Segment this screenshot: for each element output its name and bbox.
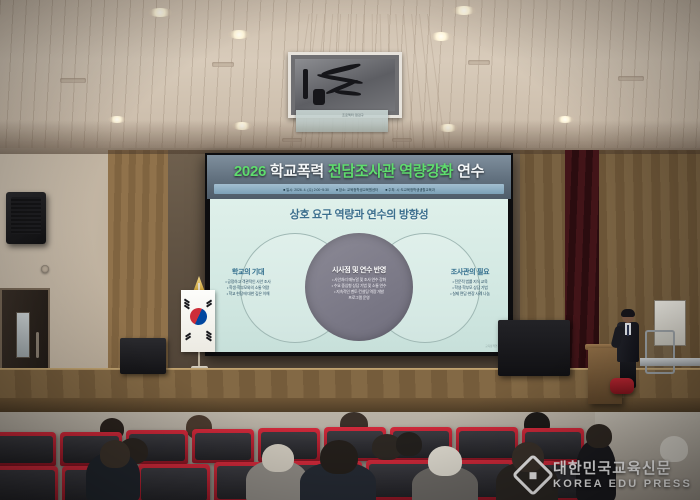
press-logo-icon [512, 454, 554, 496]
banner-subtitle-host: ■ 주최: 시·도교육청학생생활교육과 [385, 187, 435, 192]
watermark-korean: 대한민국교육신문 [553, 461, 692, 476]
audience-head [100, 440, 130, 468]
cable-connector [313, 89, 325, 105]
audience-head [660, 436, 688, 462]
ceiling-wall-shadow [0, 120, 700, 154]
door-handle[interactable] [36, 332, 39, 358]
wall-speaker [6, 192, 46, 244]
wall-fixture-icon [41, 265, 49, 273]
slide-title: 상호 요구 역량과 연수의 방향성 [210, 206, 508, 222]
taeguk-circle [187, 305, 211, 329]
ceiling-downlight [228, 30, 250, 39]
banner-title: 2026 학교폭력 전담조사관 역량강화 연수 [234, 160, 484, 181]
hatch-label-text: 프로젝터 점검구 [320, 113, 386, 117]
auditorium-seat[interactable] [0, 432, 56, 466]
ceiling-access-hatch [288, 52, 402, 118]
presenter-tie [627, 325, 629, 336]
ceiling-vent [60, 78, 86, 83]
ceiling-vent [468, 60, 490, 65]
equipment-rack [498, 320, 570, 376]
watermark: 대한민국교육신문 KOREA EDU PRESS [518, 460, 692, 490]
audience-head [396, 432, 422, 456]
red-bag [610, 378, 634, 394]
side-chair [645, 330, 675, 374]
banner-title-part-2: 전담조사관 [328, 163, 396, 180]
banner-title-part-1: 학교폭력 [270, 163, 324, 180]
watermark-text: 대한민국교육신문 KOREA EDU PRESS [553, 461, 692, 490]
presenter [617, 310, 639, 388]
list-item: • 실제 면담·현장 사례 나눔 [390, 291, 508, 297]
ceiling-vent [212, 62, 234, 67]
cable-bundle [303, 69, 308, 99]
slide-content: 상호 요구 역량과 연수의 방향성 학교의 기대 • 공정하고 객관적인 사안 … [210, 199, 508, 352]
ceiling-downlight [148, 8, 172, 17]
audience-head [586, 424, 612, 448]
watermark-english: KOREA EDU PRESS [553, 479, 692, 490]
stage-amplifier [120, 338, 166, 374]
banner-title-part-3: 역량강화 [399, 163, 453, 180]
door-window [16, 312, 30, 358]
venn-right-heading: 조사관의 필요 [390, 267, 508, 277]
auditorium-seat[interactable] [192, 429, 254, 463]
auditorium-seat[interactable] [456, 427, 518, 461]
banner-subtitle-place: ■ 장소: 교육청학생교육원센터 [336, 187, 378, 192]
audience-head [262, 444, 294, 472]
banner-subtitle-date: ■ 일시: 2026. 4. (수) 2:00~5:30 [283, 187, 329, 192]
auditorium-seat[interactable] [0, 466, 58, 500]
ceiling-downlight [430, 32, 452, 41]
event-banner: 2026 학교폭력 전담조사관 역량강화 연수 ■ 일시: 2026. 4. (… [207, 155, 511, 199]
photo-canvas: 프로젝터 점검구 2026 학교폭력 전담조사관 역량강화 연수 ■ 일시: 2… [0, 0, 700, 500]
ceiling-downlight [452, 6, 476, 15]
side-table [640, 358, 700, 366]
auditorium-seat[interactable] [138, 464, 210, 500]
banner-title-part-4: 연수 [457, 163, 484, 180]
audience-head [320, 440, 358, 474]
korean-flag [181, 290, 215, 352]
banner-subtitle: ■ 일시: 2026. 4. (수) 2:00~5:30 ■ 장소: 교육청학생… [214, 184, 504, 194]
ceiling-vent [618, 76, 644, 81]
venn-diagram: 학교의 기대 • 공정하고 객관적인 사안 조사 • 학생·학부모와의 소통 역… [210, 225, 508, 347]
presenter-hair [621, 309, 635, 317]
banner-year: 2026 [234, 163, 266, 180]
venn-right-bullets: • 전문적 법률 지식 교육 • 학생·학부모 상담 기법 • 실제 면담·현장… [390, 279, 508, 297]
audience-head [428, 446, 462, 476]
